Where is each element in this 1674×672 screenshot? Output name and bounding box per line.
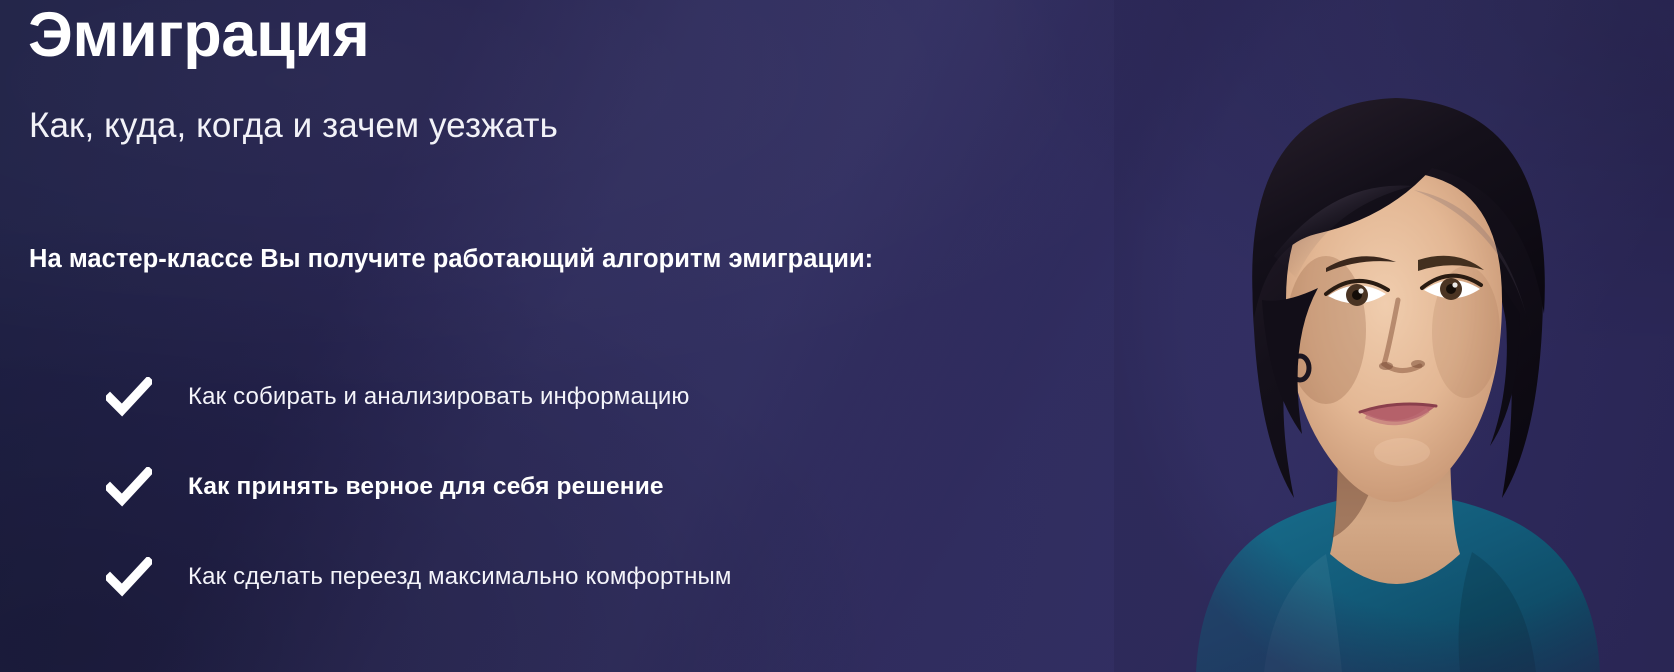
list-item-label: Как собирать и анализировать информацию	[188, 383, 690, 412]
list-item: Как собирать и анализировать информацию	[106, 352, 1086, 442]
emigration-masterclass-banner: Эмиграция Как, куда, когда и зачем уезжа…	[0, 0, 1674, 672]
page-title: Эмиграция	[28, 2, 369, 68]
list-item-label: Как принять верное для себя решение	[188, 472, 664, 501]
banner-content: Эмиграция Как, куда, когда и зачем уезжа…	[28, 0, 1118, 672]
check-icon	[106, 377, 152, 417]
list-item: Как принять верное для себя решение	[106, 442, 1086, 532]
benefits-list: Как собирать и анализировать информацию …	[106, 352, 1086, 622]
list-item: Как сделать переезд максимально комфортн…	[106, 532, 1086, 622]
lead-paragraph: На мастер-классе Вы получите работающий …	[29, 243, 959, 277]
list-item-label: Как сделать переезд максимально комфортн…	[188, 563, 732, 592]
check-icon	[106, 557, 152, 597]
page-subtitle: Как, куда, когда и зачем уезжать	[29, 106, 558, 146]
check-icon	[106, 467, 152, 507]
